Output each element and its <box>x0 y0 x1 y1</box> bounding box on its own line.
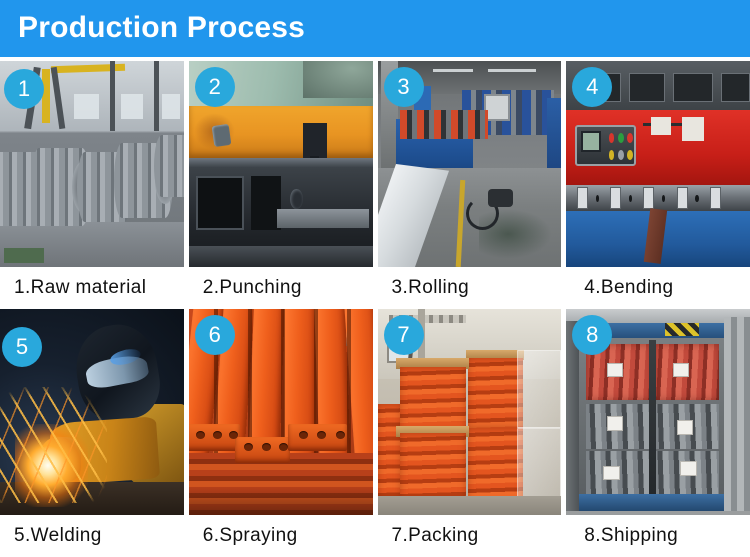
step-photo-shipping: 8 <box>566 309 750 515</box>
step-caption: 7.Packing <box>378 515 562 557</box>
header-bar: Production Process <box>0 0 750 57</box>
process-step-card[interactable]: 8 8.Shipping <box>566 309 750 557</box>
process-step-card[interactable]: 6 6.Spraying <box>189 309 373 557</box>
step-photo-spraying: 6 <box>189 309 373 515</box>
step-number-badge: 7 <box>384 315 424 355</box>
step-caption: 1.Raw material <box>0 267 184 309</box>
step-photo-rolling: 3 <box>378 61 562 267</box>
process-steps-grid: 1 1.Raw material 2 2.Punching <box>0 61 750 557</box>
step-number-badge: 2 <box>195 67 235 107</box>
page-title: Production Process <box>18 10 305 46</box>
step-number-badge: 1 <box>4 69 44 109</box>
step-number-badge: 5 <box>2 327 42 367</box>
step-caption: 8.Shipping <box>566 515 750 557</box>
step-photo-punching: 2 <box>189 61 373 267</box>
step-number-badge: 6 <box>195 315 235 355</box>
step-caption: 3.Rolling <box>378 267 562 309</box>
step-photo-packing: 7 <box>378 309 562 515</box>
step-photo-bending: 4 <box>566 61 750 267</box>
process-step-card[interactable]: 2 2.Punching <box>189 61 373 309</box>
step-photo-raw-material: 1 <box>0 61 184 267</box>
step-caption: 6.Spraying <box>189 515 373 557</box>
production-process-infographic: Production Process 1 1.Raw material <box>0 0 750 557</box>
step-number-badge: 4 <box>572 67 612 107</box>
step-caption: 4.Bending <box>566 267 750 309</box>
step-photo-welding: 5 <box>0 309 184 515</box>
step-number-badge: 3 <box>384 67 424 107</box>
process-step-card[interactable]: 1 1.Raw material <box>0 61 184 309</box>
step-caption: 2.Punching <box>189 267 373 309</box>
process-step-card[interactable]: 3 3.Rolling <box>378 61 562 309</box>
process-step-card[interactable]: 7 7.Packing <box>378 309 562 557</box>
process-step-card[interactable]: 4 4.Bending <box>566 61 750 309</box>
step-number-badge: 8 <box>572 315 612 355</box>
process-step-card[interactable]: 5 5.Welding <box>0 309 184 557</box>
step-caption: 5.Welding <box>0 515 184 557</box>
